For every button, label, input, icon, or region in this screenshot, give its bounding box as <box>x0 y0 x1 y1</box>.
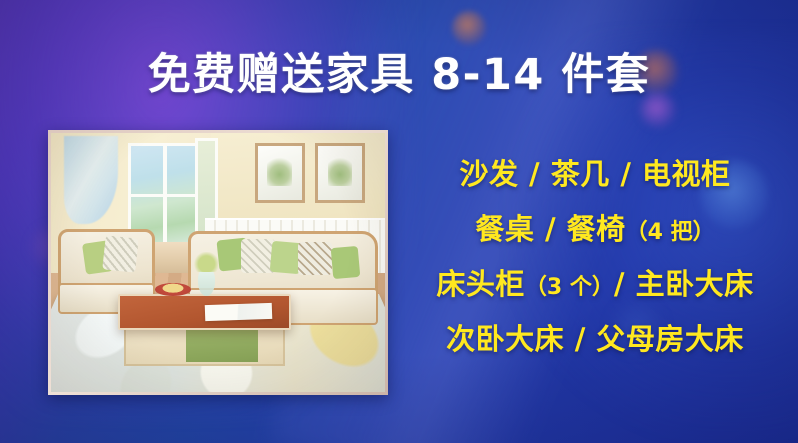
list-item-quantity: （4 把） <box>626 220 715 245</box>
list-item-label: 床头柜 <box>436 267 525 301</box>
list-item-label: 餐桌 / 餐椅 <box>475 212 625 246</box>
list-item: 次卧大床 / 父母房大床 <box>405 325 785 354</box>
furniture-list: 沙发 / 茶几 / 电视柜 餐桌 / 餐椅（4 把） 床头柜（3 个）/ 主卧大… <box>405 160 785 354</box>
furniture-photo-frame <box>48 130 388 395</box>
list-item-label: 次卧大床 / 父母房大床 <box>446 322 744 356</box>
list-item-label-tail: / 主卧大床 <box>614 267 754 301</box>
list-item-quantity: （3 个） <box>525 275 614 300</box>
page-title: 免费赠送家具 8-14 件套 <box>0 54 798 97</box>
list-item: 沙发 / 茶几 / 电视柜 <box>405 160 785 189</box>
list-item: 床头柜（3 个）/ 主卧大床 <box>405 270 785 299</box>
list-item-label: 沙发 / 茶几 / 电视柜 <box>459 157 730 191</box>
list-item: 餐桌 / 餐椅（4 把） <box>405 215 785 244</box>
photo-vignette <box>51 133 385 392</box>
furniture-photo <box>51 133 385 392</box>
promo-poster: 免费赠送家具 8-14 件套 <box>0 0 798 443</box>
